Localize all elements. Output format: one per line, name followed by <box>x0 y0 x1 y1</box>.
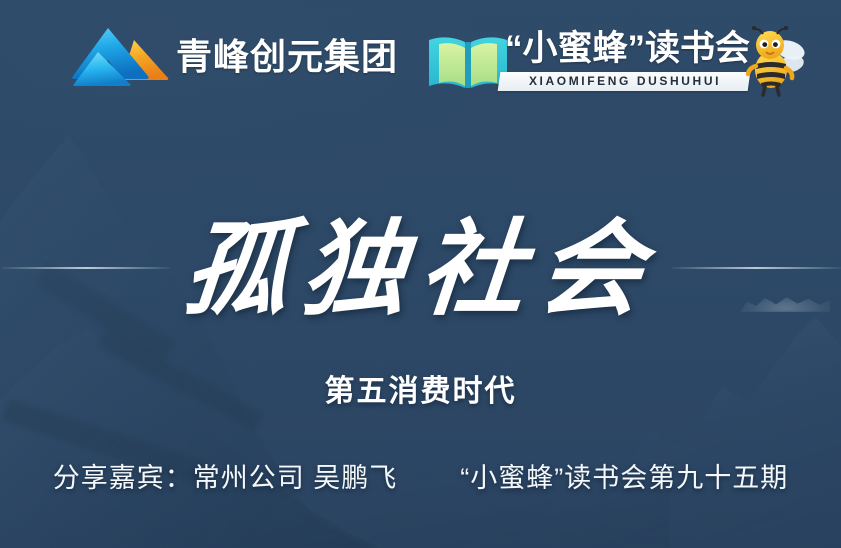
slide-title: 孤独社会 <box>0 210 841 328</box>
session-label: “小蜜蜂”读书会第九十五期 <box>460 463 788 493</box>
slide-subtitle: 第五消费时代 <box>0 372 841 412</box>
xiaomifeng-logo-name: “小蜜蜂”读书会 <box>505 24 750 74</box>
presenter-name: 分享嘉宾：常州公司 吴鹏飞 <box>53 463 398 493</box>
presenter-row: 分享嘉宾：常州公司 吴鹏飞 “小蜜蜂”读书会第九十五期 <box>0 459 841 497</box>
xiaomifeng-logo-pinyin: XIAOMIFENG DUSHUHUI <box>505 72 745 91</box>
mountain-peaks-icon <box>72 26 174 88</box>
presentation-slide: 青峰创元集团 <box>0 0 841 548</box>
qingfeng-logo: 青峰创元集团 <box>72 26 402 88</box>
xiaomifeng-logo: “小蜜蜂”读书会 XIAOMIFENG DUSHUHUI <box>425 24 815 102</box>
qingfeng-logo-name: 青峰创元集团 <box>176 28 398 86</box>
logo-row: 青峰创元集团 <box>0 0 841 112</box>
bee-mascot-icon <box>743 26 811 98</box>
